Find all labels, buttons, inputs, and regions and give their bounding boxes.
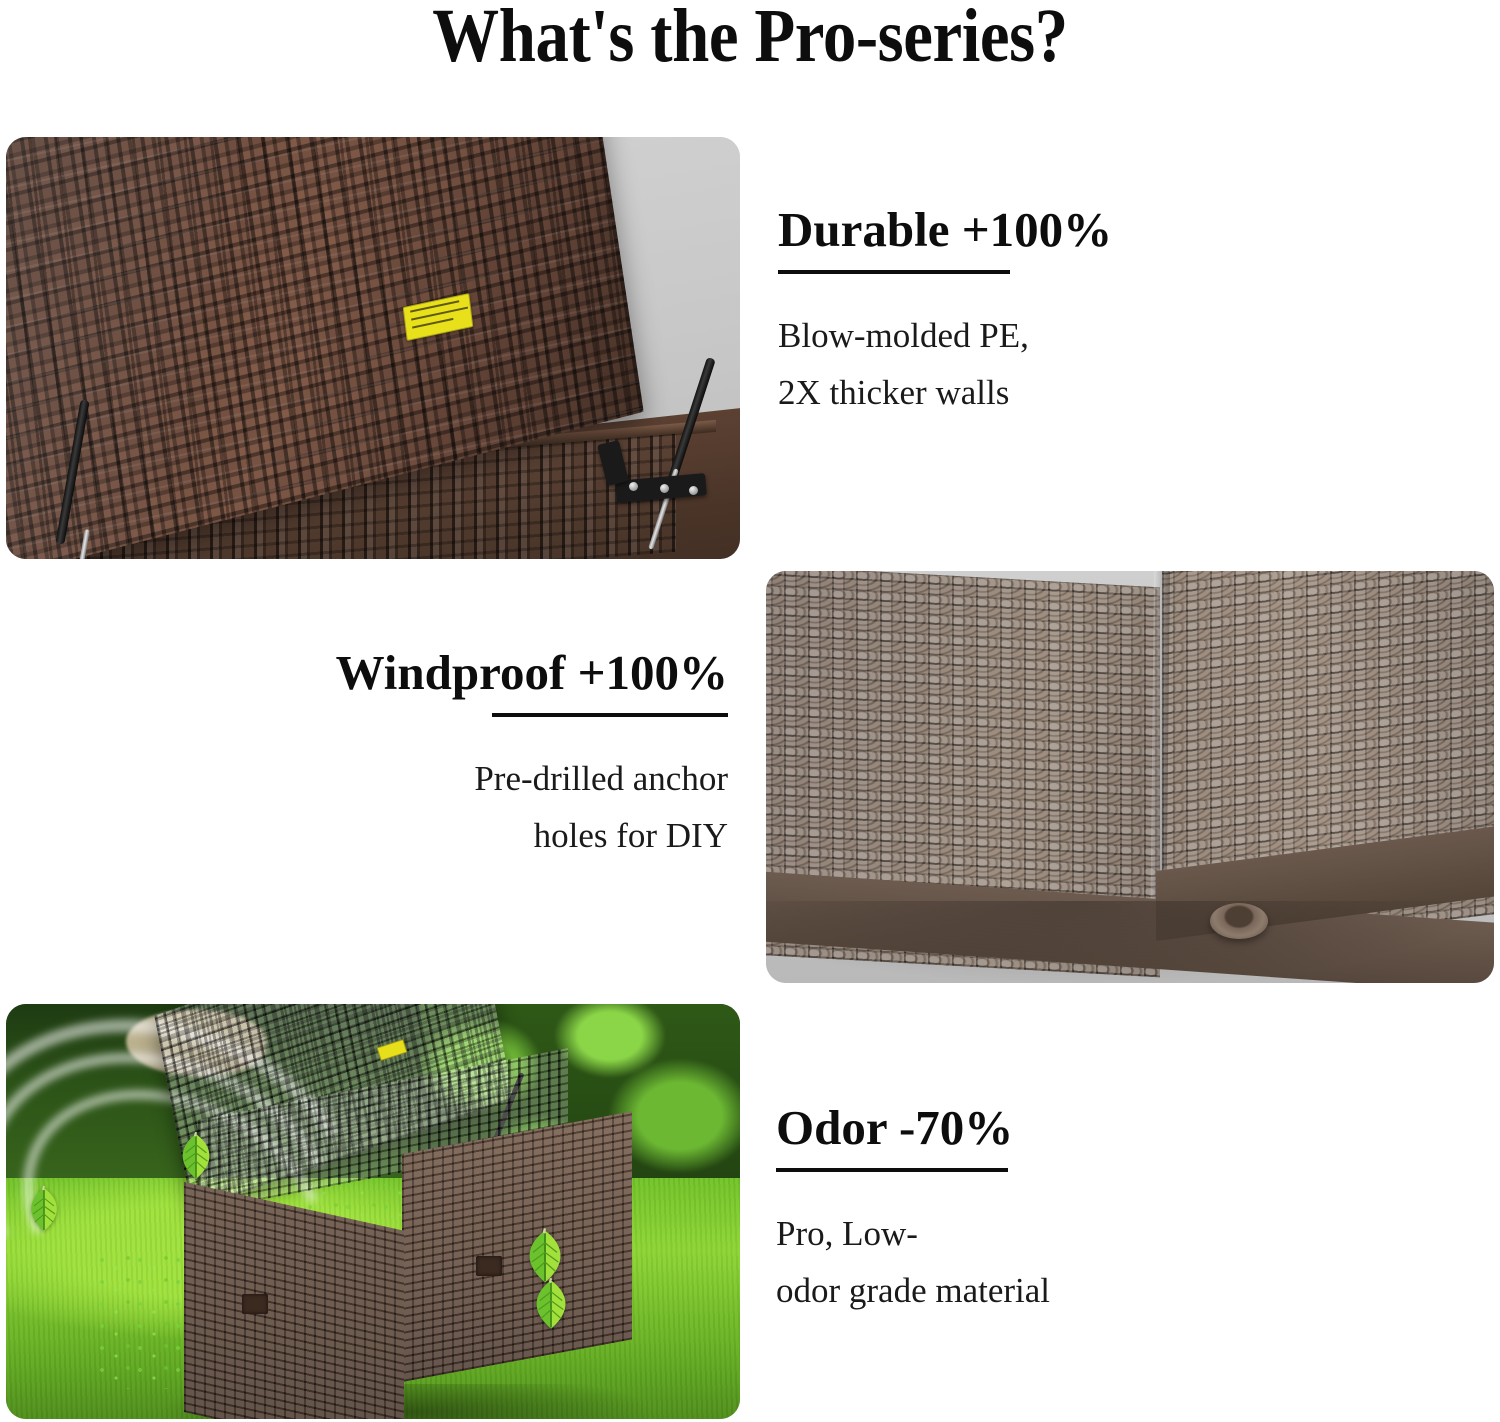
feature-rule [776,1168,1008,1172]
infographic-page: What's the Pro-series? [0,0,1500,1422]
feature-durable: Durable +100% Blow-molded PE, 2X thicker… [778,205,1378,421]
hinge-bolt [629,482,638,491]
feature-heading: Windproof +100% [160,648,728,699]
deck-box-handle [476,1256,502,1276]
leaf-icon [526,1276,576,1332]
feature-heading: Durable +100% [778,205,1378,256]
leaf-icon [173,1130,219,1182]
hinge-bolt [660,484,669,493]
feature-heading: Odor -70% [776,1103,1376,1154]
feature-rule [492,713,728,717]
feature-body: Pre-drilled anchor holes for DIY [160,751,728,864]
feature-rule [778,270,1010,274]
deck-box-handle [242,1294,268,1314]
feature-body: Blow-molded PE, 2X thicker walls [778,308,1378,421]
page-title: What's the Pro-series? [90,0,1410,74]
hinge-bolt [689,486,698,495]
feature-windproof: Windproof +100% Pre-drilled anchor holes… [160,648,728,864]
deck-box-side-panel [402,1111,632,1382]
photo-open-deck-box [6,137,740,559]
ground-shadow [766,901,1494,983]
photo-wicker-corner [766,571,1494,983]
leaf-icon [22,1184,66,1234]
feature-body: Pro, Low- odor grade material [776,1206,1376,1319]
feature-odor: Odor -70% Pro, Low- odor grade material [776,1103,1376,1319]
anchor-hole-boss [1210,903,1268,939]
photo-deck-box-on-lawn [6,1004,740,1419]
